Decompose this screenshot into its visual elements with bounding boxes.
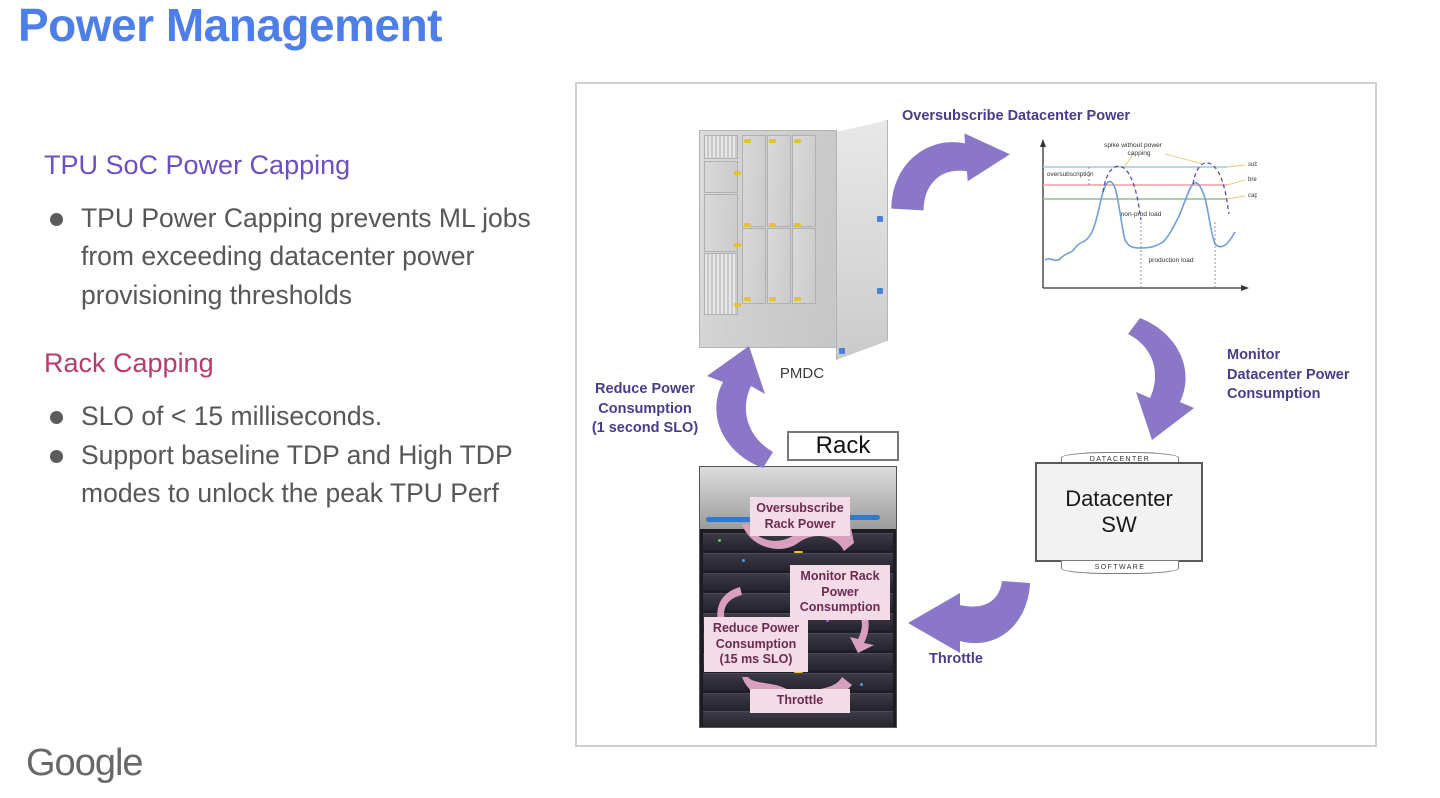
callout-reduce-power-consumption: Reduce Power Consumption (1 second SLO): [585, 380, 705, 439]
callout-line-3: (1 second SLO): [585, 419, 705, 439]
section-heading-rack-capping: Rack Capping: [44, 348, 564, 379]
cabinet-door: [767, 135, 791, 227]
callout-line-2: Consumption: [585, 400, 705, 420]
latch-icon: [794, 297, 801, 301]
vent-grille-top: [704, 135, 738, 159]
cabinet-door: [792, 228, 816, 304]
rack-label-box: Rack: [787, 431, 899, 461]
callout-line-1: Reduce Power: [710, 621, 802, 637]
rack-callout-reduce-power-consumption: Reduce Power Consumption (15 ms SLO): [704, 617, 808, 672]
callout-line-1: Reduce Power: [585, 380, 705, 400]
cabinet-door: [704, 194, 738, 252]
cabinet-door: [742, 228, 766, 304]
rack-callout-throttle: Throttle: [750, 689, 850, 713]
callout-line-2: Datacenter Power: [1227, 366, 1377, 386]
bullet-list-tpu: TPU Power Capping prevents ML jobs from …: [44, 199, 564, 314]
indicator-dot-icon: [839, 348, 845, 354]
cabinet-door: [704, 161, 738, 193]
latch-icon: [769, 297, 776, 301]
arrow-right-down-icon: [1122, 316, 1218, 446]
latch-icon: [734, 243, 741, 247]
status-led-icon: [860, 683, 863, 686]
callout-line-1: Monitor Rack: [796, 569, 884, 585]
datacenter-sw-line1: Datacenter: [1065, 486, 1173, 511]
server-blade: [703, 711, 893, 728]
datacenter-sw-line2: SW: [1101, 512, 1136, 537]
bullet-list-rack: SLO of < 15 milliseconds. Support baseli…: [44, 397, 564, 512]
svg-text:production load: production load: [1148, 257, 1193, 264]
latch-icon: [744, 297, 751, 301]
left-text-column: TPU SoC Power Capping TPU Power Capping …: [44, 150, 564, 547]
svg-text:oversubscription: oversubscription: [1047, 171, 1094, 178]
pmdc-label: PMDC: [780, 365, 824, 382]
cabinet-door: [792, 135, 816, 227]
latch-icon: [769, 223, 776, 227]
section-heading-tpu-soc-power-capping: TPU SoC Power Capping: [44, 150, 564, 181]
page-title: Power Management: [18, 0, 442, 52]
cabinet-door: [767, 228, 791, 304]
pmdc-cabinet-image: [699, 120, 889, 360]
svg-text:subscription: subscription: [1248, 162, 1257, 168]
list-item: Support baseline TDP and High TDP modes …: [44, 436, 564, 513]
callout-line-1: Oversubscribe: [756, 501, 844, 517]
cabinet-side-panel: [836, 120, 888, 360]
callout-line-2: Power: [796, 585, 884, 601]
software-cap-label: SOFTWARE: [1061, 560, 1179, 574]
arrow-bottom-left-icon: [902, 579, 1034, 657]
callout-monitor-datacenter-power: Monitor Datacenter Power Consumption: [1227, 346, 1377, 405]
datacenter-sw-screen: Datacenter SW: [1035, 462, 1203, 562]
callout-line-3: (15 ms SLO): [710, 652, 802, 668]
callout-line-3: Consumption: [796, 600, 884, 616]
rack-callout-oversubscribe-rack-power: Oversubscribe Rack Power: [750, 497, 850, 536]
latch-icon: [734, 303, 741, 307]
arrow-top-right-icon: [887, 132, 1027, 212]
figure-panel: PMDC Oversubscribe Datacenter Power: [575, 82, 1377, 747]
latch-icon: [744, 223, 751, 227]
latch-icon: [734, 171, 741, 175]
rack-photo-image: Oversubscribe Rack Power Monitor Rack Po…: [699, 466, 897, 728]
google-logo: Google: [26, 742, 143, 785]
cabinet-front-panel: [699, 130, 837, 348]
svg-text:non-prod load: non-prod load: [1121, 211, 1162, 218]
datacenter-sw-box: DATACENTER Datacenter SW SOFTWARE: [1035, 452, 1207, 572]
callout-throttle: Throttle: [929, 650, 983, 670]
latch-icon: [744, 139, 751, 143]
vent-grille-bottom: [704, 253, 738, 315]
callout-line-1: Monitor: [1227, 346, 1377, 366]
svg-text:capping: capping: [1127, 150, 1150, 157]
callout-line-3: Consumption: [1227, 385, 1377, 405]
callout-line-2: Rack Power: [756, 517, 844, 533]
latch-icon: [769, 139, 776, 143]
power-load-line-chart: spike without power capping oversubscrip…: [1029, 136, 1257, 316]
svg-text:spike without power: spike without power: [1104, 142, 1163, 149]
svg-text:breaker limit: breaker limit: [1248, 177, 1257, 183]
latch-icon: [794, 139, 801, 143]
indicator-dot-icon: [877, 288, 883, 294]
svg-text:capping threshold: capping threshold: [1248, 193, 1257, 199]
list-item: SLO of < 15 milliseconds.: [44, 397, 564, 435]
latch-icon: [794, 223, 801, 227]
status-led-icon: [742, 559, 745, 562]
list-item: TPU Power Capping prevents ML jobs from …: [44, 199, 564, 314]
cabinet-door: [742, 135, 766, 227]
indicator-dot-icon: [877, 216, 883, 222]
rack-callout-monitor-rack-power: Monitor Rack Power Consumption: [790, 565, 890, 620]
status-led-icon: [718, 539, 721, 542]
callout-oversubscribe-datacenter-power: Oversubscribe Datacenter Power: [902, 107, 1130, 127]
callout-line-2: Consumption: [710, 637, 802, 653]
